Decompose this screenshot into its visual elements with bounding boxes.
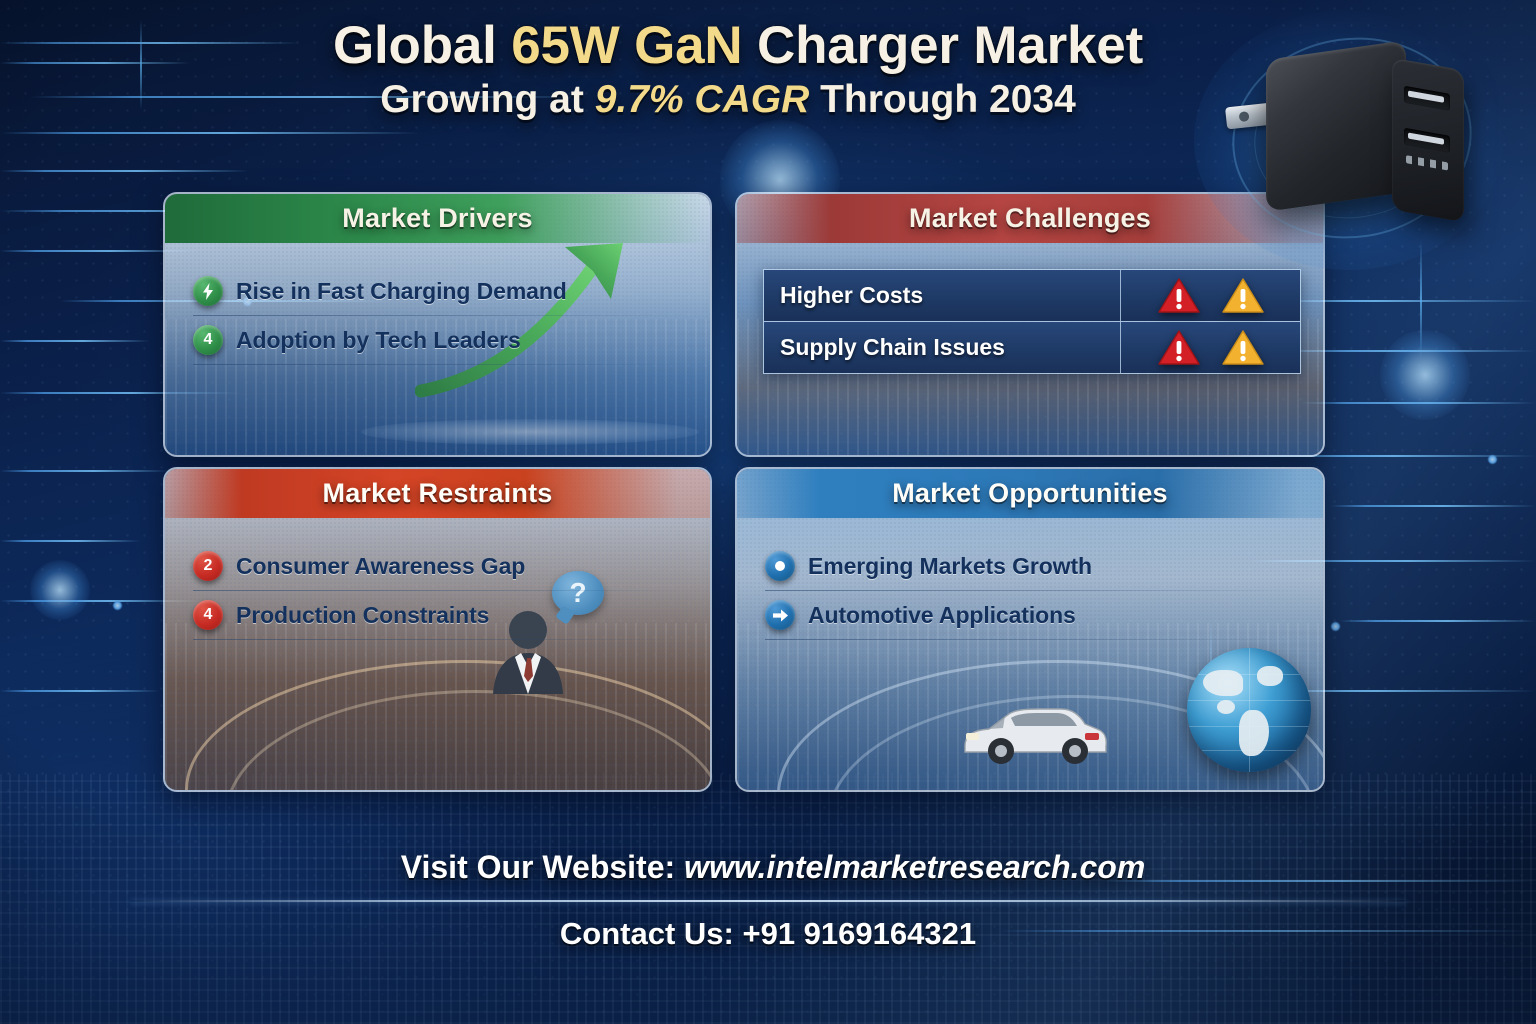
list-item[interactable]: Emerging Markets Growth [737,542,1323,590]
website-label: Visit Our Website: [401,849,684,885]
list-item-label: Consumer Awareness Gap [236,553,525,580]
list-item-label: Rise in Fast Charging Demand [236,278,567,305]
title-line1-post: Charger Market [742,16,1143,75]
title-line2-pre: Growing at [380,78,595,121]
list-item[interactable]: 4 Adoption by Tech Leaders [165,316,710,364]
dot-marker-icon [765,551,795,581]
footer-divider [130,900,1406,902]
panel-city-texture [737,623,1323,790]
infographic-poster: Global 65W GaN Charger Market Growing at… [0,0,1536,1024]
warning-amber-icon [1222,277,1264,315]
drivers-bullet-list: Rise in Fast Charging Demand 4 Adoption … [165,267,710,365]
charger-vent-dots [1406,155,1448,170]
list-divider [193,364,686,365]
panel-city-texture [165,623,710,790]
usb-port-icon [1404,128,1450,153]
list-divider [193,639,686,640]
panel-market-drivers[interactable]: Market Drivers Rise in Fast Charging Dem… [163,192,712,457]
panel-market-opportunities[interactable]: Market Opportunities Emerging Markets Gr… [735,467,1325,792]
number-marker-icon: 2 [193,551,223,581]
list-item[interactable]: Automotive Applications [737,591,1323,639]
list-item[interactable]: 2 Consumer Awareness Gap [165,542,710,590]
panel-content: 2 Consumer Awareness Gap 4 Production Co… [165,518,710,640]
contact-line: Contact Us: +91 9169164321 [0,916,1536,952]
website-url[interactable]: www.intelmarketresearch.com [684,849,1145,885]
table-row[interactable]: Higher Costs [764,270,1300,322]
challenges-table: Higher Costs Supply Chain Issues [763,269,1301,374]
poster-footer: Visit Our Website: www.intelmarketresear… [0,849,1536,952]
panel-content: Emerging Markets Growth Automotive Appli… [737,518,1323,640]
list-item-label: Adoption by Tech Leaders [236,327,521,354]
marker-value: 4 [204,606,213,624]
list-item[interactable]: Rise in Fast Charging Demand [165,267,710,315]
panel-header-opportunities: Market Opportunities [737,469,1323,518]
charger-body [1266,40,1406,212]
bolt-marker-icon [193,276,223,306]
opportunities-bullet-list: Emerging Markets Growth Automotive Appli… [737,542,1323,640]
table-cell-label: Supply Chain Issues [764,322,1120,373]
marker-value: 4 [204,331,213,349]
restraints-bullet-list: 2 Consumer Awareness Gap 4 Production Co… [165,542,710,640]
website-line: Visit Our Website: www.intelmarketresear… [0,849,1536,886]
marker-value: 2 [204,557,213,575]
panel-title: Market Opportunities [892,478,1168,509]
gan-charger-icon [1224,20,1474,250]
title-line2-post: Through 2034 [809,78,1076,121]
panel-content: Rise in Fast Charging Demand 4 Adoption … [165,243,710,365]
panels-grid: Market Drivers Rise in Fast Charging Dem… [163,192,1325,792]
number-marker-icon: 4 [193,325,223,355]
list-item-label: Emerging Markets Growth [808,553,1092,580]
list-item-label: Production Constraints [236,602,489,629]
list-item[interactable]: 4 Production Constraints [165,591,710,639]
panel-header-drivers: Market Drivers [165,194,710,243]
charger-port-face [1392,58,1464,223]
table-cell-severity [1120,322,1300,373]
panel-title: Market Drivers [342,203,532,234]
list-divider [765,639,1299,640]
warning-amber-icon [1222,329,1264,367]
warning-red-icon [1158,329,1200,367]
table-cell-severity [1120,270,1300,321]
panel-title: Market Challenges [909,203,1151,234]
panel-header-restraints: Market Restraints [165,469,710,518]
warning-red-icon [1158,277,1200,315]
table-row[interactable]: Supply Chain Issues [764,322,1300,373]
arrow-right-icon [765,600,795,630]
title-line2-highlight: 9.7% CAGR [595,78,810,121]
number-marker-icon: 4 [193,600,223,630]
panel-title: Market Restraints [323,478,553,509]
panel-market-restraints[interactable]: ? Market Restraints 2 Consumer Awareness… [163,467,712,792]
title-line1-pre: Global [333,16,511,75]
title-line1-highlight: 65W GaN [511,16,742,75]
usb-port-icon [1404,86,1450,111]
table-cell-label: Higher Costs [764,270,1120,321]
list-item-label: Automotive Applications [808,602,1076,629]
